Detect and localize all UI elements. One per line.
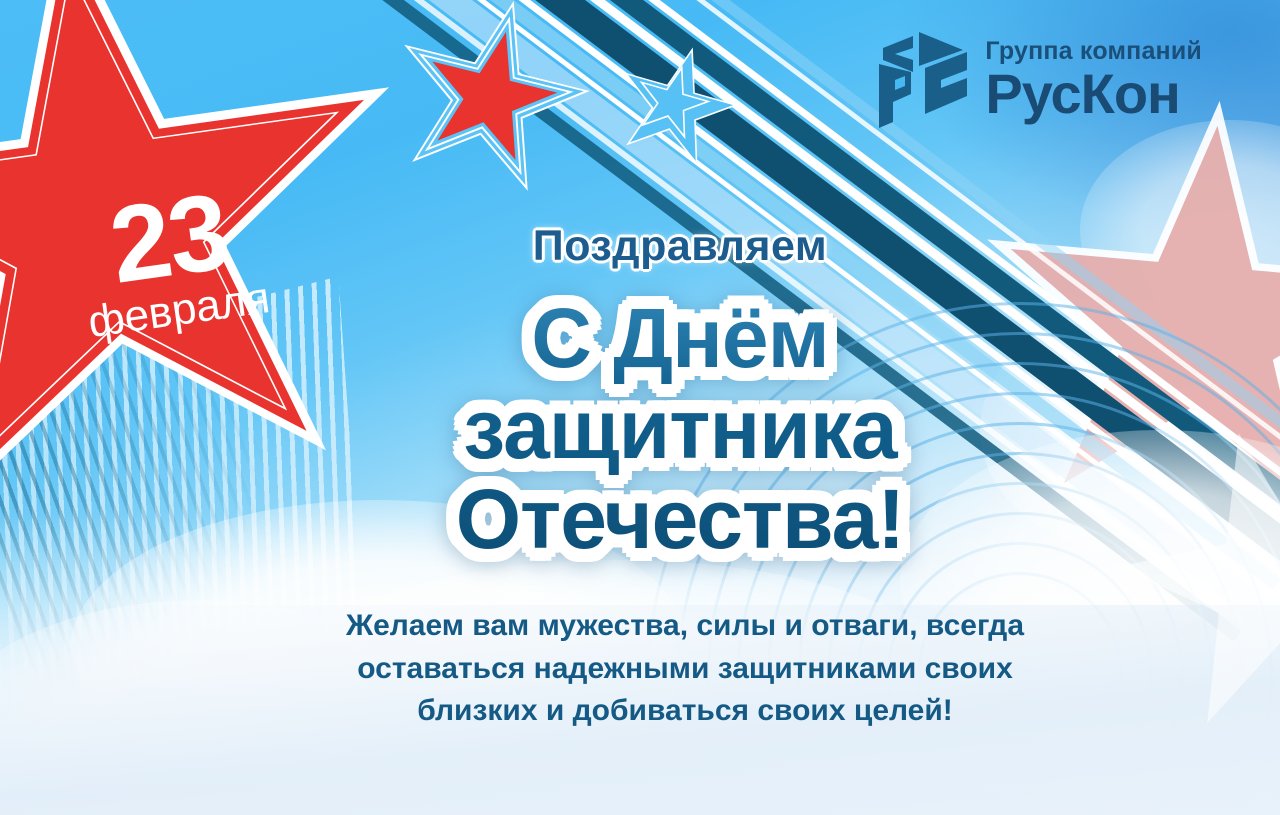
logo-name: РусКон xyxy=(985,66,1202,122)
greeting-text-block: Поздравляем С Днём защитника Отечества! xyxy=(330,222,1030,565)
ruscon-cube-monogram-icon xyxy=(875,28,971,132)
headline-line-1: С Днём защитника xyxy=(463,291,896,476)
wish-line-1: Желаем вам мужества, силы и отваги, всег… xyxy=(340,605,1030,648)
wish-line-3: близких и добиваться своих целей! xyxy=(340,690,1030,733)
kicker-text: Поздравляем xyxy=(330,222,1030,271)
logo-text-block: Группа компаний РусКон xyxy=(985,39,1202,122)
headline-line-2: Отечества! xyxy=(330,474,1030,565)
wish-line-2: оставаться надежными защитниками своих xyxy=(340,648,1030,691)
wish-text-block: Желаем вам мужества, силы и отваги, всег… xyxy=(340,605,1030,733)
headline: С Днём защитника Отечества! xyxy=(330,293,1030,565)
greeting-card: 23 февраля Группа компаний РусКон Поздра… xyxy=(0,0,1280,815)
logo-tagline: Группа компаний xyxy=(985,39,1202,64)
company-logo[interactable]: Группа компаний РусКон xyxy=(875,28,1202,132)
